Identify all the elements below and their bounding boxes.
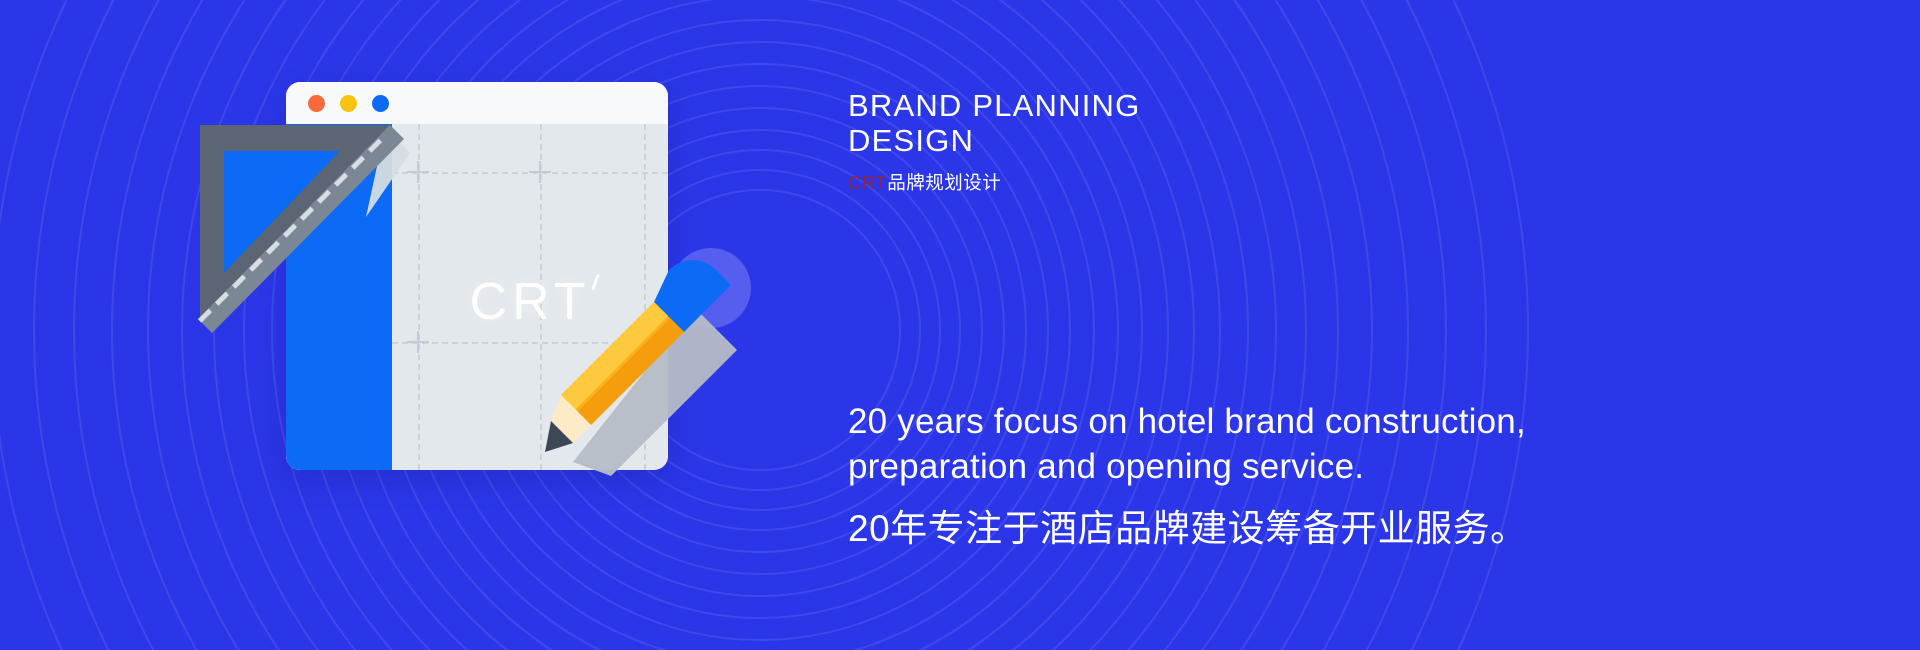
tagline-english-line-2: preparation and opening service.	[848, 445, 1748, 490]
headline-line-2: DESIGN	[848, 123, 1548, 158]
subheadline-text: 品牌规划设计	[887, 172, 1001, 193]
headline-block: BRAND PLANNING DESIGN CRT品牌规划设计	[848, 88, 1548, 195]
close-dot	[308, 95, 325, 112]
guide-crosshair	[407, 331, 429, 353]
subheadline-brand: CRT	[848, 172, 887, 193]
tagline-english-line-1: 20 years focus on hotel brand constructi…	[848, 400, 1748, 445]
brand-illustration: CRT	[180, 60, 880, 570]
window-titlebar	[286, 82, 668, 124]
triangle-ruler-icon	[190, 125, 410, 350]
maximize-dot	[372, 95, 389, 112]
guide-crosshair	[407, 161, 429, 183]
headline-line-1: BRAND PLANNING	[848, 88, 1548, 123]
minimize-dot	[340, 95, 357, 112]
tagline-block: 20 years focus on hotel brand constructi…	[848, 400, 1748, 552]
guide-crosshair	[529, 161, 551, 183]
brand-banner: CRT	[0, 0, 1920, 650]
subheadline: CRT品牌规划设计	[848, 169, 1548, 195]
pencil-icon	[545, 230, 765, 480]
tagline-chinese: 20年专注于酒店品牌建设筹备开业服务。	[848, 506, 1748, 552]
